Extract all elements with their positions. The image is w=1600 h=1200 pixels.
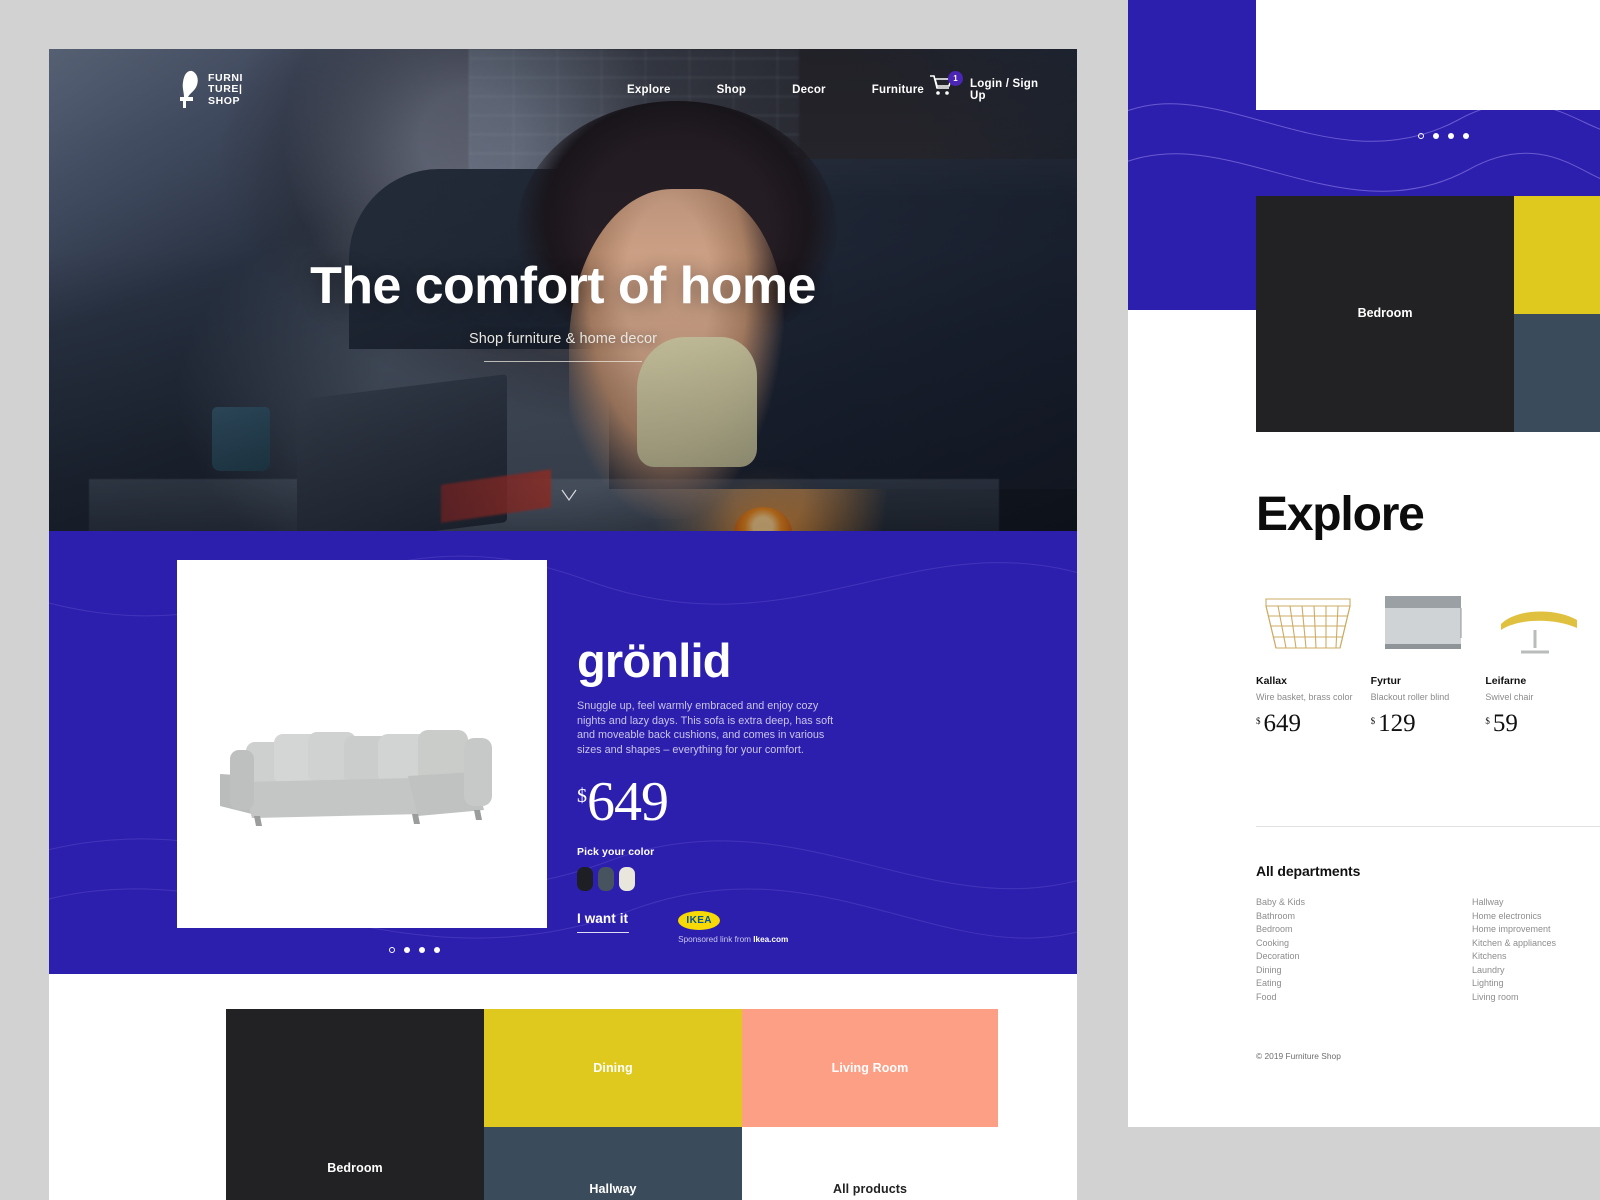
hero-copy: The comfort of home Shop furniture & hom… [49, 255, 1077, 362]
brand-logo-text: FURNI TURE| SHOP [208, 73, 243, 108]
page-root: FURNI TURE| SHOP Explore Shop Decor Furn… [0, 0, 1600, 1200]
price-amount: 649 [587, 774, 668, 830]
nav-item-login-signup[interactable]: Login / Sign Up [947, 78, 1077, 102]
dept-link-dining[interactable]: Dining [1256, 964, 1472, 977]
price-amount-leifarne: 59 [1493, 711, 1518, 736]
product-price-fyrtur: $ 129 [1371, 711, 1486, 736]
category-tiles: Bedroom Dining Living Room Hallway All p… [226, 1009, 998, 1200]
departments-column-left: Baby & Kids Bathroom Bedroom Cooking Dec… [1256, 896, 1472, 1004]
tile-dining[interactable]: Dining [484, 1009, 742, 1127]
sponsored-note-link[interactable]: Ikea.com [753, 935, 788, 944]
top-navigation-bar: FURNI TURE| SHOP Explore Shop Decor Furn… [49, 49, 1077, 169]
section-divider [1256, 826, 1600, 827]
tile-bedroom[interactable]: Bedroom [226, 1009, 484, 1200]
tile-all-products-label: All products [833, 1182, 907, 1196]
dept-link-cooking[interactable]: Cooking [1256, 937, 1472, 950]
dept-link-bathroom[interactable]: Bathroom [1256, 910, 1472, 923]
carousel-dot-2[interactable] [404, 947, 410, 953]
hero-subtitle: Shop furniture & home decor [49, 331, 1077, 347]
nav-item-shop[interactable]: Shop [694, 84, 770, 96]
ikea-logo-text: IKEA [686, 915, 712, 926]
tile-dining-label: Dining [593, 1061, 632, 1075]
carousel-dot-1[interactable] [389, 947, 395, 953]
main-page-mockup: FURNI TURE| SHOP Explore Shop Decor Furn… [49, 49, 1077, 1200]
right-carousel-dot-2[interactable] [1433, 133, 1439, 139]
dept-link-bedroom[interactable]: Bedroom [1256, 923, 1472, 936]
tile-hallway-label: Hallway [589, 1182, 636, 1196]
color-swatch-cream[interactable] [619, 867, 635, 891]
hero-title: The comfort of home [49, 255, 1077, 317]
product-subtitle-kallax: Wire basket, brass color [1256, 692, 1371, 702]
color-swatch-group [577, 867, 907, 891]
product-image-card[interactable] [177, 560, 547, 928]
chevron-down-icon[interactable] [561, 489, 577, 506]
pick-color-label: Pick your color [577, 846, 907, 858]
dept-link-home-improvement[interactable]: Home improvement [1472, 923, 1600, 936]
tile-living-room[interactable]: Living Room [742, 1009, 998, 1127]
right-tile-dining[interactable] [1514, 196, 1600, 314]
price-currency-leifarne: $ [1485, 716, 1490, 726]
product-name-kallax: Kallax [1256, 675, 1371, 687]
price-currency-kallax: $ [1256, 716, 1261, 726]
right-category-tiles: Bedroom [1256, 196, 1600, 432]
product-card-leifarne[interactable]: Leifarne Swivel chair $ 59 [1485, 568, 1600, 768]
nav-item-decor[interactable]: Decor [769, 84, 849, 96]
dept-link-living-room[interactable]: Living room [1472, 991, 1600, 1004]
price-currency: $ [577, 785, 587, 808]
chair-logo-icon [178, 70, 201, 110]
dept-link-baby-kids[interactable]: Baby & Kids [1256, 896, 1472, 909]
carousel-dot-4[interactable] [434, 947, 440, 953]
ikea-logo-icon: IKEA [678, 911, 720, 930]
price-amount-kallax: 649 [1264, 711, 1302, 736]
dept-link-eating[interactable]: Eating [1256, 977, 1472, 990]
dept-link-laundry[interactable]: Laundry [1472, 964, 1600, 977]
dept-link-kitchen-appliances[interactable]: Kitchen & appliances [1472, 937, 1600, 950]
carousel-dot-3[interactable] [419, 947, 425, 953]
product-description: Snuggle up, feel warmly embraced and enj… [577, 699, 839, 757]
right-tile-bedroom-label: Bedroom [1256, 306, 1514, 320]
departments-column-right: Hallway Home electronics Home improvemen… [1472, 896, 1600, 1004]
product-card-kallax[interactable]: Kallax Wire basket, brass color $ 649 [1256, 568, 1371, 768]
brand-logo[interactable]: FURNI TURE| SHOP [178, 70, 243, 110]
product-name-fyrtur: Fyrtur [1371, 675, 1486, 687]
explore-heading: Explore [1256, 487, 1424, 542]
hero-divider [484, 361, 642, 362]
product-subtitle-fyrtur: Blackout roller blind [1371, 692, 1486, 702]
product-card-fyrtur[interactable]: Fyrtur Blackout roller blind $ 129 [1371, 568, 1486, 768]
price-currency-fyrtur: $ [1371, 716, 1376, 726]
product-price-kallax: $ 649 [1256, 711, 1371, 736]
right-hero-crop [1256, 0, 1600, 110]
nav-links: Explore Shop Decor Furniture Login / Sig… [604, 78, 1077, 102]
sponsored-note: Sponsored link from Ikea.com [678, 935, 788, 944]
dept-link-hallway[interactable]: Hallway [1472, 896, 1600, 909]
departments-heading: All departments [1256, 863, 1360, 879]
right-tile-bedroom[interactable]: Bedroom [1256, 196, 1514, 432]
nav-item-explore[interactable]: Explore [604, 84, 694, 96]
logo-line-3: SHOP [208, 96, 243, 108]
sofa-product-image [212, 664, 512, 824]
i-want-it-button[interactable]: I want it [577, 911, 628, 933]
product-name-leifarne: Leifarne [1485, 675, 1600, 687]
cart-button[interactable]: 1 [929, 74, 961, 104]
product-price: $ 649 [577, 774, 907, 830]
copyright-text: © 2019 Furniture Shop [1256, 1051, 1341, 1061]
product-info: grönlid Snuggle up, feel warmly embraced… [577, 634, 907, 944]
departments-columns: Baby & Kids Bathroom Bedroom Cooking Dec… [1256, 896, 1600, 1004]
tile-all-products[interactable]: All products [742, 1127, 998, 1200]
color-swatch-black[interactable] [577, 867, 593, 891]
secondary-page-mockup: Bedroom Explore [1128, 0, 1600, 1127]
cart-badge-count: 1 [948, 71, 963, 86]
product-subtitle-leifarne: Swivel chair [1485, 692, 1600, 702]
tile-bedroom-label: Bedroom [327, 1161, 383, 1175]
wire-basket-thumb [1256, 568, 1371, 658]
right-tile-hallway[interactable] [1514, 314, 1600, 432]
color-swatch-slate[interactable] [598, 867, 614, 891]
dept-link-home-electronics[interactable]: Home electronics [1472, 910, 1600, 923]
product-carousel-dots [389, 947, 440, 953]
explore-product-row: Kallax Wire basket, brass color $ 649 F [1256, 568, 1600, 768]
product-price-leifarne: $ 59 [1485, 711, 1600, 736]
right-carousel-dot-4[interactable] [1463, 133, 1469, 139]
roller-blind-thumb [1371, 568, 1486, 658]
right-carousel-dot-1[interactable] [1418, 133, 1424, 139]
sponsored-note-prefix: Sponsored link from [678, 935, 753, 944]
price-amount-fyrtur: 129 [1378, 711, 1416, 736]
right-carousel-dot-3[interactable] [1448, 133, 1454, 139]
tile-living-room-label: Living Room [832, 1061, 909, 1075]
dept-link-food[interactable]: Food [1256, 991, 1472, 1004]
tile-hallway[interactable]: Hallway [484, 1127, 742, 1200]
cta-row: I want it IKEA Sponsored link from Ikea.… [577, 911, 907, 944]
dept-link-kitchens[interactable]: Kitchens [1472, 950, 1600, 963]
product-name: grönlid [577, 634, 907, 688]
dept-link-decoration[interactable]: Decoration [1256, 950, 1472, 963]
sponsor-block[interactable]: IKEA Sponsored link from Ikea.com [678, 911, 788, 944]
swivel-chair-thumb [1485, 568, 1600, 658]
dept-link-lighting[interactable]: Lighting [1472, 977, 1600, 990]
right-carousel-dots [1418, 133, 1469, 139]
